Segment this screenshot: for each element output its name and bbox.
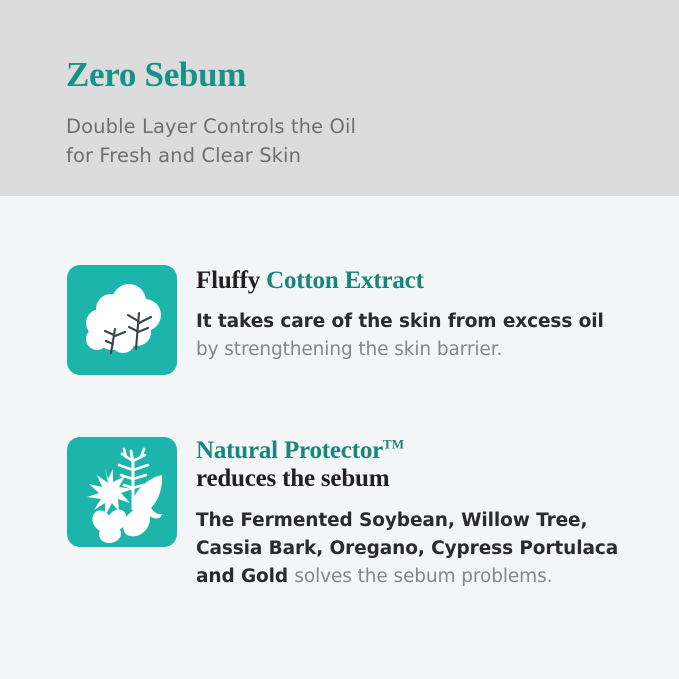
body-line-1: It takes care of the skin from excess oi… [196,308,666,336]
body-line-3-strong: and Gold [196,566,294,587]
feature-heading-cotton-extract: Fluffy Cotton Extract [196,265,666,295]
feature-text-natural-protector: Natural ProtectorTM reduces the sebum Th… [196,437,666,591]
product-info-panel: Zero Sebum Double Layer Controls the Oil… [0,0,679,679]
body-line-3-muted: solves the sebum problems. [294,566,552,587]
heading-line-teal: Natural ProtectorTM [196,437,666,465]
cotton-boll-icon [67,265,177,375]
feature-body-cotton-extract: It takes care of the skin from excess oi… [196,295,666,364]
cotton-boll-icon-container [67,265,177,375]
subtitle-line-2: for Fresh and Clear Skin [66,141,356,170]
heading-line-dark: reduces the sebum [196,465,666,493]
botanical-leaves-icon [67,437,177,547]
subtitle-line-1: Double Layer Controls the Oil [66,112,356,141]
feature-body-natural-protector: The Fermented Soybean, Willow Tree, Cass… [196,493,666,591]
feature-heading-natural-protector: Natural ProtectorTM reduces the sebum [196,437,666,493]
heading-part-teal: Natural Protector [196,437,383,464]
header-band: Zero Sebum Double Layer Controls the Oil… [0,0,679,196]
body-line-2: Cassia Bark, Oregano, Cypress Portulaca [196,535,666,563]
trademark-mark: TM [383,437,404,452]
botanical-leaves-icon-container [67,437,177,547]
body-line-3: and Gold solves the sebum problems. [196,563,666,591]
page-subtitle: Double Layer Controls the Oil for Fresh … [66,112,356,170]
body-line-1: The Fermented Soybean, Willow Tree, [196,507,666,535]
page-title: Zero Sebum [66,55,246,95]
body-line-2: by strengthening the skin barrier. [196,336,666,364]
feature-text-cotton-extract: Fluffy Cotton Extract It takes care of t… [196,265,666,364]
heading-part-teal: Cotton Extract [266,267,424,294]
heading-part-dark: Fluffy [196,267,266,294]
